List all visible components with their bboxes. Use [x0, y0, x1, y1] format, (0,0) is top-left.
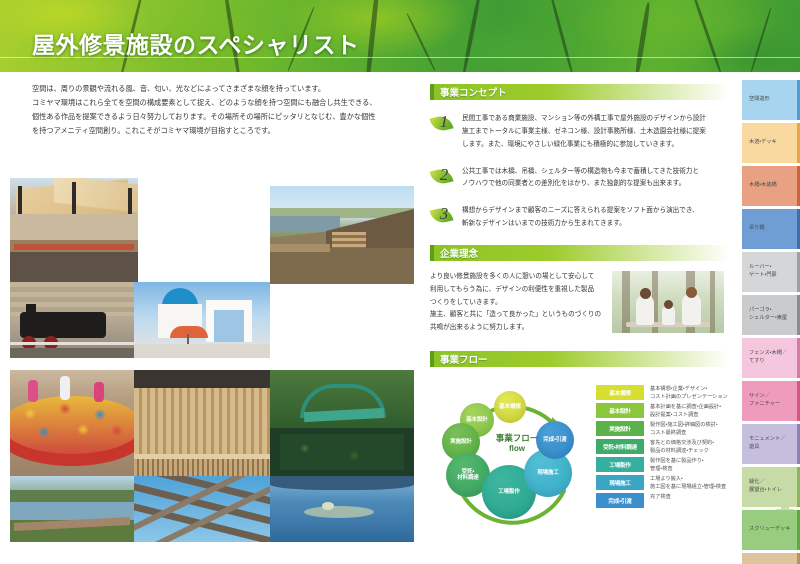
flow-step-label: 受託・材料調達 [603, 443, 637, 451]
flow-center-title: 事業フロー [486, 433, 548, 444]
section-header-philosophy: 企業理念 [430, 245, 730, 261]
sidebar-tab-tsuribashi[interactable]: 吊り橋 [742, 209, 800, 249]
flow-desc-line: コスト最終調査 [650, 430, 718, 438]
flow-step-badge: 現場施工 [596, 475, 644, 490]
sidebar-tab-louver-gate[interactable]: ルーバー・ ゲート・門扉 [742, 252, 800, 292]
flow-step-badge: 工場製作 [596, 457, 644, 472]
photo-gallery [10, 178, 414, 543]
flow-bubble-label: 実施設計 [450, 439, 472, 446]
concept-item: 1 民間工事である商業施設、マンション等の外構工事で屋外施設のデザインから設計 … [430, 110, 730, 152]
family-forest-table-photo [612, 271, 724, 333]
flow-desc-line: 製品の材料調達・チェック [650, 448, 714, 456]
flow-step-row: 受託・材料調達 客先との価格交渉及び契約・ 製品の材料調達・チェック [596, 439, 732, 454]
flow-step-desc: 基本構想・企業・デザイン・ コスト計画のプレゼンテーション [644, 385, 728, 401]
photo-wooden-louver-fence [134, 370, 270, 476]
sidebar-tab-ryokka-toilet[interactable]: 緑化／ 展望台・トイレ [742, 467, 800, 507]
sidebar-tab-label: パーゴラ・ シェルター・東屋 [749, 307, 787, 322]
concept-body: 公共工事では木橋、吊橋、シェルター等の構造物も今まで蓄積してきた技術力と ノウハ… [462, 163, 699, 192]
sidebar-tab-pergola-shelter[interactable]: パーゴラ・ シェルター・東屋 [742, 295, 800, 335]
flow-step-row: 基本構想 基本構想・企業・デザイン・ コスト計画のプレゼンテーション [596, 385, 732, 400]
business-flow: 基本構想 基本設計 実施設計 受託・ 材料調達 工場製作 現場施工 [430, 377, 730, 547]
photo-steam-locomotive-plaza [10, 282, 134, 358]
flow-step-row: 完成・引渡 完了検査 [596, 493, 732, 508]
flow-step-desc: 製作図・施工図・詳細図の検討・ コスト最終調査 [644, 421, 718, 437]
flow-step-label: 基本設計 [609, 407, 631, 415]
sidebar-tab-label: 木橋・木装橋 [749, 182, 777, 190]
concept-body: 構想からデザインまで顧客のニーズに答えられる提案をソフト面から演出でき、 斬新な… [462, 202, 699, 231]
sidebar-tab-mokkyou[interactable]: 木橋・木装橋 [742, 166, 800, 206]
flow-step-label: 工場製作 [609, 461, 631, 469]
flow-step-desc: 製作図を基に製品作り・ 管理・検査 [644, 457, 704, 473]
sidebar-tab-kukan-zoukei[interactable]: 空間造形 [742, 80, 800, 120]
section-header-concept: 事業コンセプト [430, 84, 730, 100]
sidebar-tab-label: 木道・デッキ [749, 139, 777, 147]
flow-bubble-label: 基本構想 [499, 404, 521, 411]
philosophy-block: より良い修景施設を多くの人に憩いの場として安心して 利用してもらう為に、デザイン… [430, 271, 730, 335]
flow-desc-line: 施工図を基に現場組立・管理・検査 [650, 484, 726, 492]
flow-center-label: 事業フロー flow [486, 433, 548, 454]
concept-body: 民間工事である商業施設、マンション等の外構工事で屋外施設のデザインから設計 施工… [462, 110, 706, 152]
philosophy-line: つくりをしていきます。 [430, 297, 602, 310]
flow-desc-line: 製作図を基に製品作り・ [650, 458, 704, 466]
flow-step-badge: 実施設計 [596, 421, 644, 436]
leaf-number-2-icon: 2 [430, 163, 456, 189]
sidebar-tab-label: サイン／ ファニチャー [749, 393, 780, 408]
concept-list: 1 民間工事である商業施設、マンション等の外構工事で屋外施設のデザインから設計 … [430, 110, 730, 231]
photo-shade-sail-terrace [10, 178, 138, 282]
page-title: 屋外修景施設のスペシャリスト [32, 26, 359, 60]
concept-line: 公共工事では木橋、吊橋、シェルター等の構造物も今まで蓄積してきた技術力と [462, 166, 699, 179]
flow-step-badge: 受託・材料調達 [596, 439, 644, 454]
sidebar-tab-monument-yuugu[interactable]: モニュメント／ 遊具 [742, 424, 800, 464]
section-header-flow: 事業フロー [430, 351, 730, 367]
flow-bubble-label: 現場施工 [537, 470, 559, 477]
sidebar-tab-label: 吊り橋 [749, 225, 765, 233]
flow-step-badge: 基本設計 [596, 403, 644, 418]
flow-desc-line: 客先との価格交渉及び契約・ [650, 440, 714, 448]
intro-line: 個性ある作品を提案できるよう日々努力しております。その場所その場所にピッタリとな… [32, 110, 417, 124]
philosophy-line: 利用してもらう為に、デザインの利便性を重視した製品 [430, 284, 602, 297]
flow-step-desc: 基本計画を基に調査・企画設計・ 設計提案・コスト調査 [644, 403, 721, 419]
concept-line: 斬新なデザインはいまでの技術力から生まれてきます。 [462, 218, 699, 231]
flow-step-desc: 工場より搬入・ 施工図を基に現場組立・管理・検査 [644, 475, 726, 491]
flow-bubble-kihon-kousou: 基本構想 [494, 391, 526, 423]
section-title-philosophy: 企業理念 [430, 246, 478, 260]
leaf-number-1-icon: 1 [430, 110, 456, 136]
photo-water-basin-reflection [270, 476, 414, 542]
philosophy-line: 施主、顧客と共に「造って良かった」というものづくりの [430, 309, 602, 322]
sidebar-tab-mokudou-deck[interactable]: 木道・デッキ [742, 123, 800, 163]
flow-desc-line: 製作図・施工図・詳細図の検討・ [650, 422, 718, 430]
accent-bar [430, 245, 434, 261]
concept-number: 2 [432, 163, 456, 187]
category-sidebar[interactable]: 空間造形 木道・デッキ 木橋・木装橋 吊り橋 ルーバー・ ゲート・門扉 パーゴラ… [742, 80, 800, 564]
concept-line: 民間工事である商業施設、マンション等の外構工事で屋外施設のデザインから設計 [462, 113, 706, 126]
concept-item: 3 構想からデザインまで顧客のニーズに答えられる提案をソフト面から演出でき、 斬… [430, 202, 730, 231]
flow-step-list: 基本構想 基本構想・企業・デザイン・ コスト計画のプレゼンテーション 基本設計 … [596, 385, 732, 511]
photo-lakeside-boardwalk [10, 476, 134, 542]
flow-desc-line: 管理・検査 [650, 466, 704, 474]
sidebar-tab-label: ルーバー・ ゲート・門扉 [749, 264, 777, 279]
flow-step-badge: 完成・引渡 [596, 493, 644, 508]
sidebar-tab-label: 緑化／ 展望台・トイレ [749, 479, 782, 494]
philosophy-line: 共鳴が出来るように努力します。 [430, 322, 602, 335]
flow-step-desc: 客先との価格交渉及び契約・ 製品の材料調達・チェック [644, 439, 714, 455]
concept-item: 2 公共工事では木橋、吊橋、シェルター等の構造物も今まで蓄積してきた技術力と ノ… [430, 163, 730, 192]
sidebar-tab-label: 空間造形 [749, 96, 770, 104]
flow-circle-diagram: 基本構想 基本設計 実施設計 受託・ 材料調達 工場製作 現場施工 [432, 387, 594, 537]
concept-line: ノウハウで他の同業者との差別化をはかり、また独創的な提案も出来ます。 [462, 178, 699, 191]
right-content-column: 事業コンセプト 1 民間工事である商業施設、マンション等の外構工事で屋外施設のデ… [430, 84, 730, 547]
photo-white-dome-pavilion [134, 282, 270, 358]
flow-desc-line: 工場より搬入・ [650, 476, 726, 484]
flow-step-label: 完成・引渡 [608, 497, 631, 505]
sidebar-tab-label: モニュメント／ 遊具 [749, 436, 785, 451]
header-banner: 屋外修景施設のスペシャリスト [0, 0, 800, 72]
flow-desc-line: コスト計画のプレゼンテーション [650, 394, 728, 402]
accent-bar [430, 84, 434, 100]
flow-desc-line: 完了検査 [650, 494, 671, 502]
intro-line: 空間は、周りの景観や流れる風、音、匂い、光などによってさまざまな顔を持っています… [32, 82, 417, 96]
accent-bar [430, 351, 434, 367]
sidebar-tab-fence-tesuri[interactable]: フェンス・木柵／ てすり [742, 338, 800, 378]
photo-pergola-lattice-sky [134, 476, 270, 542]
flow-step-label: 実施設計 [609, 425, 631, 433]
flow-step-row: 基本設計 基本計画を基に調査・企画設計・ 設計提案・コスト調査 [596, 403, 732, 418]
sidebar-tab-hoshuu-rei[interactable]: 吊り橋補修例／ 土橋架替例 [742, 553, 800, 564]
section-title-concept: 事業コンセプト [430, 85, 507, 99]
leaf-number-3-icon: 3 [430, 202, 456, 228]
intro-paragraph: 空間は、周りの景観や流れる風、音、匂い、光などによってさまざまな顔を持っています… [32, 82, 417, 138]
flow-step-badge: 基本構想 [596, 385, 644, 400]
sidebar-tab-label: フェンス・木柵／ てすり [749, 350, 787, 365]
flow-desc-line: 設計提案・コスト調査 [650, 412, 721, 420]
photo-green-arch-bridge [270, 370, 414, 476]
concept-number: 3 [432, 202, 456, 226]
philosophy-line: より良い修景施設を多くの人に憩いの場として安心して [430, 271, 602, 284]
intro-line: を持つアメニティ空間創り。これこそがコミヤマ環境が目指すところです。 [32, 124, 417, 138]
flow-step-desc: 完了検査 [644, 493, 671, 502]
concept-line: します。また、環境にやさしい緑化事業にも積極的に参加していきます。 [462, 139, 706, 152]
flow-center-subtitle: flow [486, 444, 548, 454]
section-title-flow: 事業フロー [430, 352, 488, 366]
sidebar-tab-screw-deck[interactable]: スクリューデッキ [742, 510, 800, 550]
concept-line: 施工までトータルに事業主様、ゼネコン様、設計事務所様、土木造園会社様に提案 [462, 126, 706, 139]
flow-step-label: 基本構想 [609, 389, 631, 397]
flow-bubble-label: 受託・ 材料調達 [457, 469, 479, 482]
flow-step-row: 実施設計 製作図・施工図・詳細図の検討・ コスト最終調査 [596, 421, 732, 436]
concept-line: 構想からデザインまで顧客のニーズに答えられる提案をソフト面から演出でき、 [462, 205, 699, 218]
flow-step-label: 現場施工 [609, 479, 631, 487]
flow-desc-line: 基本構想・企業・デザイン・ [650, 386, 728, 394]
sidebar-tab-label: スクリューデッキ [749, 526, 791, 534]
flow-bubble-label: 工場製作 [498, 489, 520, 496]
sidebar-tab-sign-furniture[interactable]: サイン／ ファニチャー [742, 381, 800, 421]
philosophy-body: より良い修景施設を多くの人に憩いの場として安心して 利用してもらう為に、デザイン… [430, 271, 602, 335]
photo-childrens-play-dome [10, 370, 134, 476]
flow-step-row: 工場製作 製作図を基に製品作り・ 管理・検査 [596, 457, 732, 472]
brochure-page: 屋外修景施設のスペシャリスト 空間は、周りの景観や流れる風、音、匂い、光などによ… [0, 0, 800, 564]
flow-bubble-label: 基本設計 [466, 417, 488, 424]
flow-step-row: 現場施工 工場より搬入・ 施工図を基に現場組立・管理・検査 [596, 475, 732, 490]
concept-number: 1 [432, 110, 456, 134]
flow-desc-line: 基本計画を基に調査・企画設計・ [650, 404, 721, 412]
photo-riverside-boardwalk-stairs [270, 186, 414, 284]
intro-line: コミヤマ環境はこれら全てを空間の構成要素として捉え、どのような顔を持つ空間にも融… [32, 96, 417, 110]
